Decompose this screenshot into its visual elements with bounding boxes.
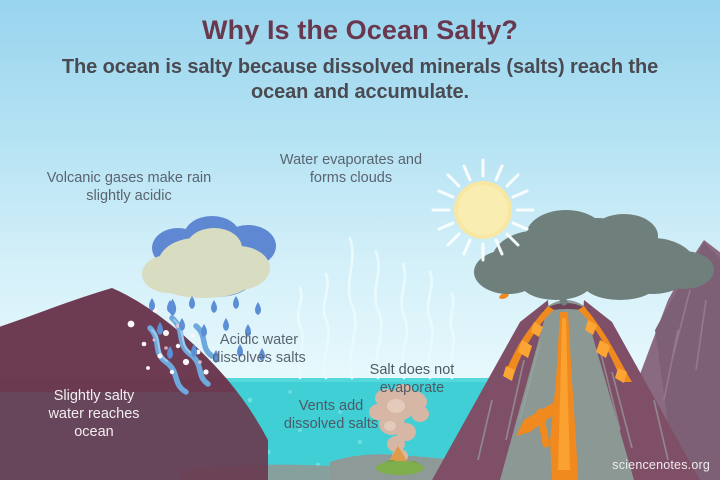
label-water-evaporates: Water evaporates and forms clouds [256, 152, 446, 188]
label-slightly-salty-water: Slightly salty water reaches ocean [24, 388, 164, 442]
watermark: sciencenotes.org [612, 458, 710, 472]
label-vents-add-salts: Vents add dissolved salts [256, 398, 406, 434]
smoke-cloud-icon [474, 210, 714, 300]
infographic-canvas: Why Is the Ocean Salty? The ocean is sal… [0, 0, 720, 480]
page-subtitle: The ocean is salty because dissolved min… [60, 55, 660, 106]
header: Why Is the Ocean Salty? The ocean is sal… [0, 0, 720, 106]
label-acidic-water: Acidic water dissolves salts [186, 332, 332, 368]
mountain-with-streams [0, 288, 268, 480]
sun-icon [433, 160, 533, 260]
page-title: Why Is the Ocean Salty? [0, 16, 720, 46]
label-salt-does-not-evaporate: Salt does not evaporate [342, 362, 482, 398]
label-volcanic-gases: Volcanic gases make rain slightly acidic [14, 170, 244, 206]
